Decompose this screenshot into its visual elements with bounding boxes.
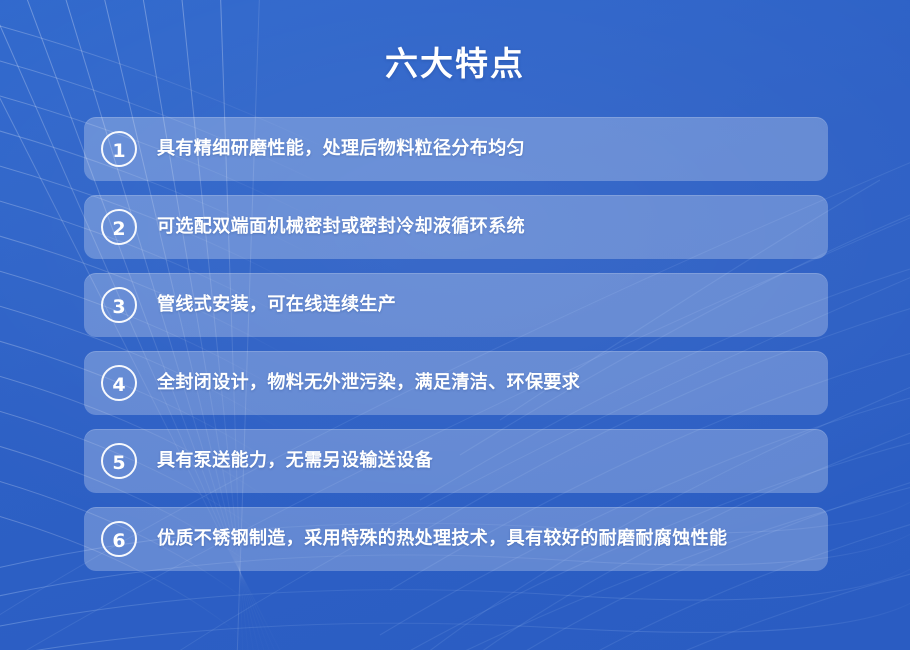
- feature-number-badge: 4: [101, 365, 137, 401]
- feature-number-badge: 6: [101, 521, 137, 557]
- feature-text: 具有精细研磨性能，处理后物料粒径分布均匀: [157, 136, 525, 162]
- feature-row-4[interactable]: 4 全封闭设计，物料无外泄污染，满足清洁、环保要求: [84, 351, 828, 415]
- feature-text: 可选配双端面机械密封或密封冷却液循环系统: [157, 214, 525, 240]
- feature-text: 管线式安装，可在线连续生产: [157, 292, 396, 318]
- feature-number-badge: 3: [101, 287, 137, 323]
- feature-row-2[interactable]: 2 可选配双端面机械密封或密封冷却液循环系统: [84, 195, 828, 259]
- feature-row-3[interactable]: 3 管线式安装，可在线连续生产: [84, 273, 828, 337]
- feature-text: 优质不锈钢制造，采用特殊的热处理技术，具有较好的耐磨耐腐蚀性能: [157, 526, 727, 552]
- feature-text: 具有泵送能力，无需另设输送设备: [157, 448, 433, 474]
- feature-number-badge: 1: [101, 131, 137, 167]
- feature-row-6[interactable]: 6 优质不锈钢制造，采用特殊的热处理技术，具有较好的耐磨耐腐蚀性能: [84, 507, 828, 571]
- feature-row-1[interactable]: 1 具有精细研磨性能，处理后物料粒径分布均匀: [84, 117, 828, 181]
- page-title: 六大特点: [0, 41, 910, 87]
- feature-number-badge: 5: [101, 443, 137, 479]
- feature-list: 1 具有精细研磨性能，处理后物料粒径分布均匀 2 可选配双端面机械密封或密封冷却…: [84, 117, 828, 571]
- feature-number-badge: 2: [101, 209, 137, 245]
- feature-row-5[interactable]: 5 具有泵送能力，无需另设输送设备: [84, 429, 828, 493]
- feature-text: 全封闭设计，物料无外泄污染，满足清洁、环保要求: [157, 370, 580, 396]
- feature-poster: 六大特点 1 具有精细研磨性能，处理后物料粒径分布均匀 2 可选配双端面机械密封…: [0, 0, 910, 650]
